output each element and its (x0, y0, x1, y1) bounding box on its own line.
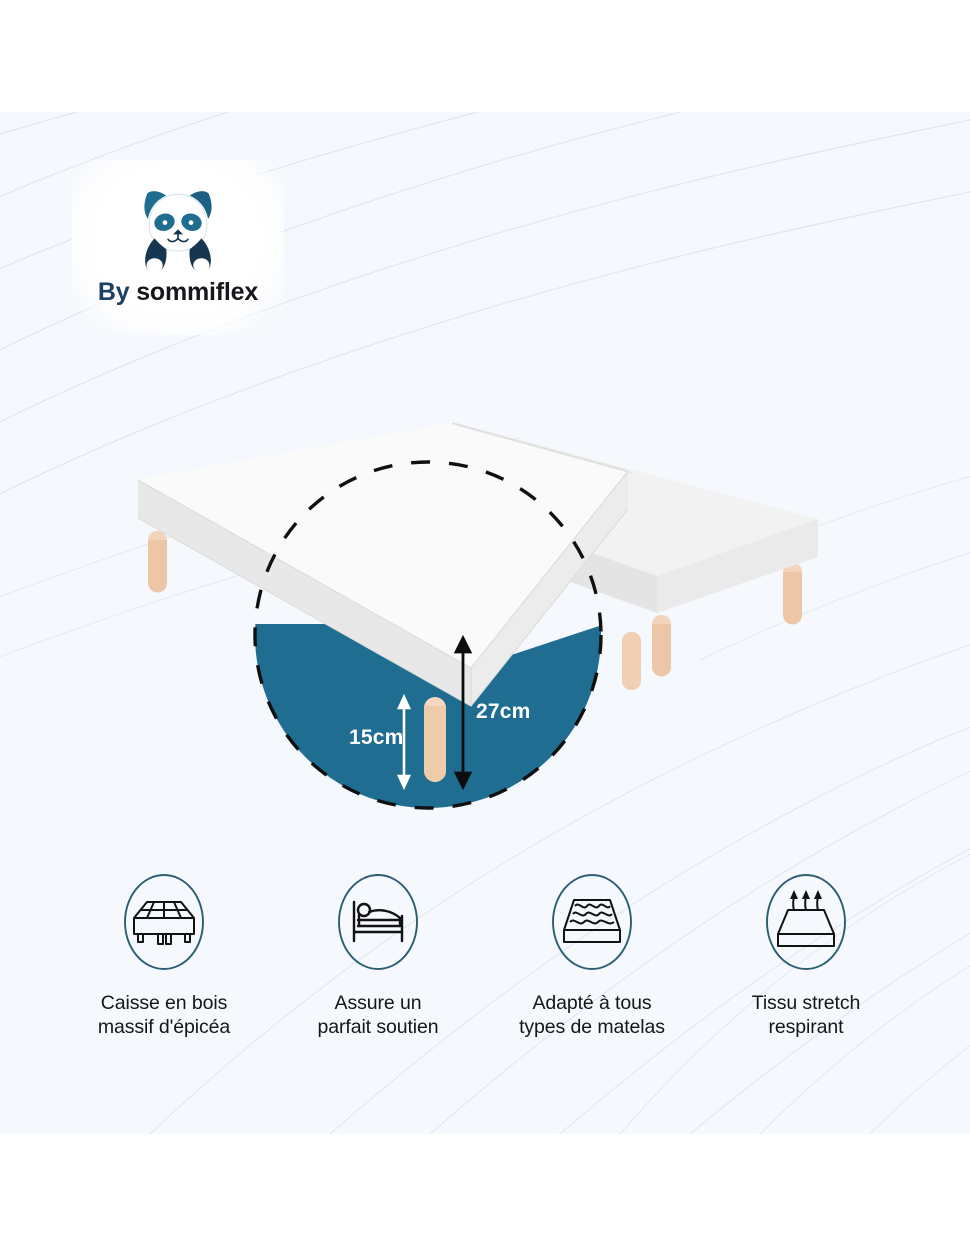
feature-item-wood-box: Caisse en bois massif d'épicéa (57, 868, 271, 1040)
feature-label-line2: massif d'épicéa (98, 1016, 230, 1038)
total-height-label: 27cm (476, 700, 531, 724)
brand-logo: By sommiflex (72, 160, 284, 335)
feature-list: Caisse en bois massif d'épicéa (0, 868, 970, 1048)
feature-label-line1: Tissu stretch (752, 992, 861, 1014)
feature-label-breathable: Tissu stretch respirant (752, 992, 861, 1040)
infographic-page: By sommiflex (0, 0, 970, 1253)
quilted-mattress-icon (544, 868, 640, 976)
top-white-margin (0, 0, 970, 112)
bottom-white-margin (0, 1134, 970, 1253)
feature-label-line2: respirant (769, 1016, 844, 1038)
bed-base-svg (0, 400, 970, 840)
brand-name: sommiflex (136, 278, 258, 306)
feature-item-support: Assure un parfait soutien (271, 868, 485, 1040)
slatted-bed-base-icon (116, 868, 212, 976)
bed-base-illustration (0, 400, 970, 840)
feature-label-line2: parfait soutien (318, 1016, 439, 1038)
brand-wordmark: By sommiflex (72, 278, 284, 307)
feature-label-mattress-compat: Adapté à tous types de matelas (519, 992, 665, 1040)
feature-label-line1: Caisse en bois (101, 992, 228, 1014)
feature-label-line1: Assure un (335, 992, 422, 1014)
feature-label-line2: types de matelas (519, 1016, 665, 1038)
feature-item-breathable: Tissu stretch respirant (699, 868, 913, 1040)
panda-icon (124, 170, 232, 278)
feature-item-mattress-compat: Adapté à tous types de matelas (485, 868, 699, 1040)
leg-height-label: 15cm (349, 726, 404, 750)
feature-label-support: Assure un parfait soutien (318, 992, 439, 1040)
feature-label-wood-box: Caisse en bois massif d'épicéa (98, 992, 230, 1040)
brand-prefix: By (98, 278, 130, 306)
person-sleeping-bed-icon (330, 868, 426, 976)
breathable-mattress-airflow-icon (758, 868, 854, 976)
feature-label-line1: Adapté à tous (532, 992, 651, 1014)
